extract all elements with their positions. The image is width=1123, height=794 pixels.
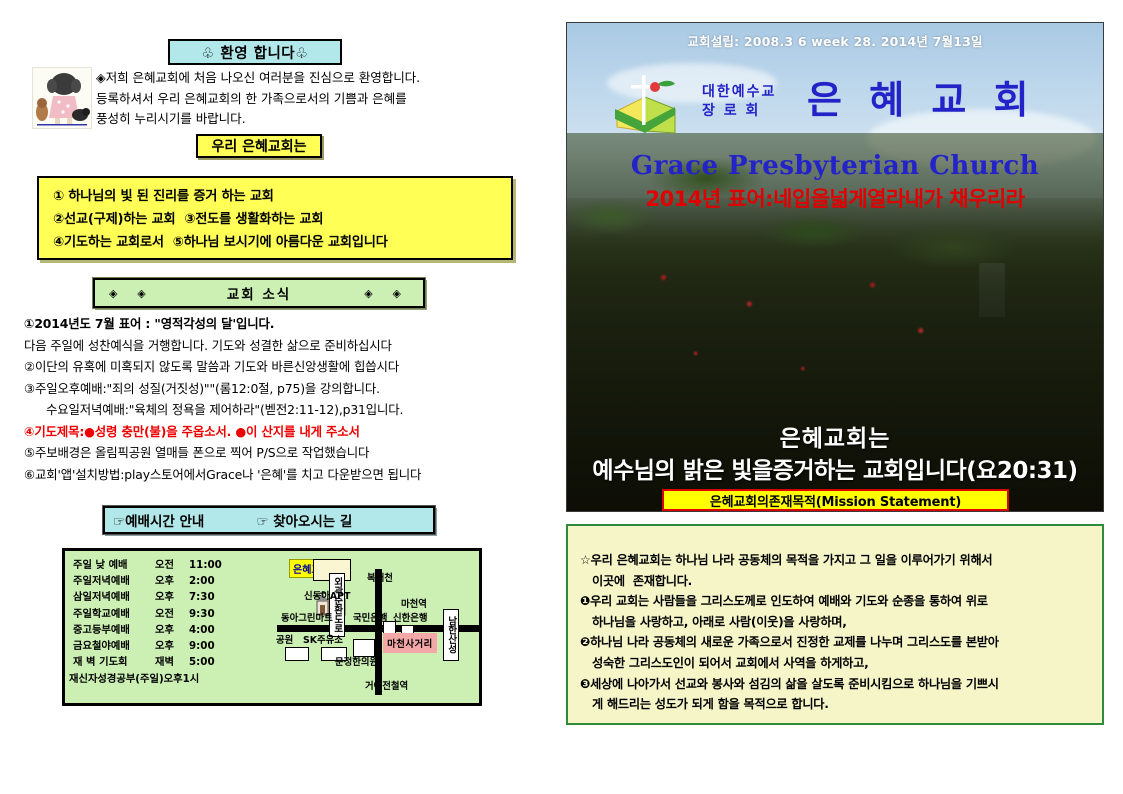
statement-line: 이곳에 존재합니다. <box>580 571 1092 592</box>
schedule-time: 9:30 <box>189 606 234 622</box>
schedule-ampm: 오후 <box>155 638 189 654</box>
church-news-list: ①2014년도 7월 표어 : "영적각성의 달'입니다. 다음 주일에 성찬예… <box>24 313 544 485</box>
schedule-ampm: 오전 <box>155 606 189 622</box>
schedule-row: 주일학교예배 오전 9:30 <box>73 606 278 622</box>
statement-line: ☆우리 은혜교회는 하나님 나라 공동체의 목적을 가지고 그 일을 이루어가기… <box>580 550 1092 571</box>
identity-line: ① 하나님의 빛 된 진리를 증거 하는 교회 <box>53 185 511 208</box>
news-item: ①2014년도 7월 표어 : "영적각성의 달'입니다. <box>24 313 544 335</box>
location-map: 은혜교회 마천사거리 외곽순환도로 <box>277 551 482 703</box>
news-item: 다음 주일에 성찬예식을 거행합니다. 기도와 성결한 삶으로 준비하십시다 <box>24 335 544 357</box>
map-label-geoyeo-station: 거여전철역 <box>365 681 408 692</box>
map-label-bokgaecheon: 복개천 <box>367 573 393 584</box>
service-times-and-directions-banner: ☞예배시간 안내 ☞ 찾아오시는 길 <box>103 506 435 534</box>
schedule-row: 주일 낮 예배 오전 11:00 <box>73 557 278 573</box>
schedule-ampm: 오후 <box>155 589 189 605</box>
schedule-time: 11:00 <box>189 557 234 573</box>
schedule-service-name: 주일학교예배 <box>73 606 155 622</box>
church-name-korean: 은 혜 교 회 <box>807 78 1036 123</box>
identity-line: ④기도하는 교회로서 ⑤하나님 보시기에 아름다운 교회입니다 <box>53 231 511 254</box>
schedule-service-name: 주일 낮 예배 <box>73 557 155 573</box>
schedule-ampm: 오전 <box>155 557 189 573</box>
open-bible-cross-icon <box>611 75 683 141</box>
schedule-time: 2:00 <box>189 573 234 589</box>
welcome-text-line: 등록하셔서 우리 은혜교회의 한 가족으로서의 기쁨과 은혜를 <box>96 89 516 110</box>
diamond-icon-left: ◈ ◈ <box>109 287 154 300</box>
statement-line: 게 해드리는 성도가 되게 함을 목적으로 합니다. <box>580 694 1092 715</box>
year-slogan: 2014년 표어:네입을넓게열라내가 채우리라 <box>567 183 1103 213</box>
news-item: ②이단의 유혹에 미혹되지 않도록 말씀과 기도와 바른신앙생활에 힙씁시다 <box>24 356 544 378</box>
schedule-footnote: 재신자성경공부(주일)오후1시 <box>69 671 278 687</box>
news-item: ⑤주보배경은 올림픽공원 열매들 폰으로 찍어 P/S으로 작업했습니다 <box>24 442 544 464</box>
service-times-label: ☞예배시간 안내 <box>113 510 204 530</box>
photo-caption-line-2: 예수님의 밝은 빛을증거하는 교회입니다(요20:31) <box>567 451 1103 485</box>
map-label-namhansanseong: 남한산성 <box>446 616 456 654</box>
map-namhansanseong-box: 남한산성 <box>443 609 459 661</box>
schedule-time: 9:00 <box>189 638 234 654</box>
news-item: 수요일저녁예배:"육체의 정욕을 제어하라"(벧전2:11-12),p31입니다… <box>24 399 544 421</box>
welcome-text-line: 풍성히 누리시기를 바랍니다. <box>96 109 516 130</box>
map-road-vertical <box>375 569 382 695</box>
statement-line: ❸세상에 나아가서 선교와 봉사와 섬김의 삶을 살도록 준비시킴으로 하나님을… <box>580 674 1092 695</box>
worship-schedule-table: 주일 낮 예배 오전 11:00 주일저녁예배 오후 2:00 삼일저녁예배 오… <box>73 557 278 687</box>
map-label-sk-gas-station: SK주유소 <box>303 635 343 646</box>
right-column: 교회설립: 2008.3 6 week 28. 2014년 7월13일 대한예수… <box>566 22 1104 512</box>
schedule-row: 중고등부예배 오후 4:00 <box>73 622 278 638</box>
statement-line: 성숙한 그리스도인이 되어서 교회에서 사역을 하게하고, <box>580 653 1092 674</box>
photo-caption-line-1: 은혜교회는 <box>567 419 1103 453</box>
map-label-shinhan-bank: 신한은행 <box>393 613 428 624</box>
schedule-time: 5:00 <box>189 654 234 670</box>
schedule-row: 재 벽 기도회 재벽 5:00 <box>73 654 278 670</box>
schedule-service-name: 중고등부예배 <box>73 622 155 638</box>
map-label-park: 공원 <box>276 635 293 646</box>
map-label-kookmin-bank: 국민은행 <box>353 613 388 624</box>
cover-photo-card: 교회설립: 2008.3 6 week 28. 2014년 7월13일 대한예수… <box>566 22 1104 512</box>
map-label-clinic: 문정한의원 <box>335 657 378 668</box>
schedule-service-name: 금요철야예배 <box>73 638 155 654</box>
statement-line: ❷하나님 나라 공동체의 새로운 가족으로서 진정한 교제를 나누며 그리스도를… <box>580 632 1092 653</box>
schedule-and-map-panel: 주일 낮 예배 오전 11:00 주일저녁예배 오후 2:00 삼일저녁예배 오… <box>62 548 482 706</box>
map-label-macheon-station: 마천역 <box>401 599 427 610</box>
schedule-ampm: 오후 <box>155 573 189 589</box>
map-ring-road-box: 외곽순환도로 <box>329 573 345 637</box>
schedule-ampm: 재벽 <box>155 654 189 670</box>
girl-with-dogs-icon <box>33 68 91 128</box>
header-date: 교회설립: 2008.3 6 week 28. 2014년 7월13일 <box>567 31 1103 50</box>
map-intersection-highlight: 마천사거리 <box>383 633 437 653</box>
denomination-line-1: 대한예수교 <box>702 83 776 102</box>
schedule-service-name: 주일저녁예배 <box>73 573 155 589</box>
welcome-clipart-image <box>32 67 92 129</box>
identity-line: ②선교(구제)하는 교회 ③전도를 생활화하는 교회 <box>53 208 511 231</box>
denomination-line-2: 장 로 회 <box>702 102 776 121</box>
statement-line: ❶우리 교회는 사람들을 그리스도께로 인도하여 예배와 기도와 순종을 통하여… <box>580 591 1092 612</box>
mission-statement-box: ☆우리 은혜교회는 하나님 나라 공동체의 목적을 가지고 그 일을 이루어가기… <box>566 524 1104 725</box>
news-item-prayer: ④기도제목:●성령 충만(불)을 주옵소서. ●이 산지를 내게 주소서 <box>24 421 544 443</box>
schedule-row: 주일저녁예배 오후 2:00 <box>73 573 278 589</box>
map-label-sindonga-apt: 신동아APT <box>304 591 350 602</box>
schedule-time: 4:00 <box>189 622 234 638</box>
bulletin-page: ♧ 환영 합니다♧ <box>0 0 1123 794</box>
church-name-english: Grace Presbyterian Church <box>567 151 1103 181</box>
schedule-service-name: 재 벽 기도회 <box>73 654 155 670</box>
map-label-donga-greenmart: 동아그린마트 <box>281 613 333 624</box>
map-building-block <box>353 639 375 657</box>
welcome-text: ◈저희 은혜교회에 처음 나오신 여러분을 진심으로 환영합니다. 등록하셔서 … <box>96 68 516 130</box>
directions-label: ☞ 찾아오시는 길 <box>256 510 352 530</box>
welcome-banner: ♧ 환영 합니다♧ <box>168 39 342 65</box>
our-church-banner: 우리 은혜교회는 <box>196 134 322 158</box>
schedule-row: 금요철야예배 오후 9:00 <box>73 638 278 654</box>
schedule-ampm: 오후 <box>155 622 189 638</box>
map-label-ring-road: 외곽순환도로 <box>332 577 342 633</box>
map-building-block <box>285 647 309 661</box>
church-identity-box: ① 하나님의 빛 된 진리를 증거 하는 교회 ②선교(구제)하는 교회 ③전도… <box>37 176 513 260</box>
church-news-title: 교회 소식 <box>227 283 291 303</box>
schedule-service-name: 삼일저녁예배 <box>73 589 155 605</box>
diamond-icon-right: ◈ ◈ <box>364 287 409 300</box>
schedule-time: 7:30 <box>189 589 234 605</box>
news-item: ③주일오후예배:"죄의 성질(거짓성)""(롬12:0절, p75)을 강의합니… <box>24 378 544 400</box>
mission-statement-tag: 은혜교회의존재목적(Mission Statement) <box>662 489 1009 511</box>
left-column: ♧ 환영 합니다♧ <box>0 0 560 794</box>
welcome-text-line: ◈저희 은혜교회에 처음 나오신 여러분을 진심으로 환영합니다. <box>96 68 516 89</box>
schedule-row: 삼일저녁예배 오후 7:30 <box>73 589 278 605</box>
church-news-banner: ◈ ◈ 교회 소식 ◈ ◈ <box>93 278 425 308</box>
denomination-name: 대한예수교 장 로 회 <box>702 83 776 121</box>
news-item: ⑥교회'앱'설치방법:play스토어에서Grace나 '은혜'를 치고 다운받으… <box>24 464 544 486</box>
statement-line: 하나님을 사랑하고, 아래로 사람(이웃)을 사랑하며, <box>580 612 1092 633</box>
